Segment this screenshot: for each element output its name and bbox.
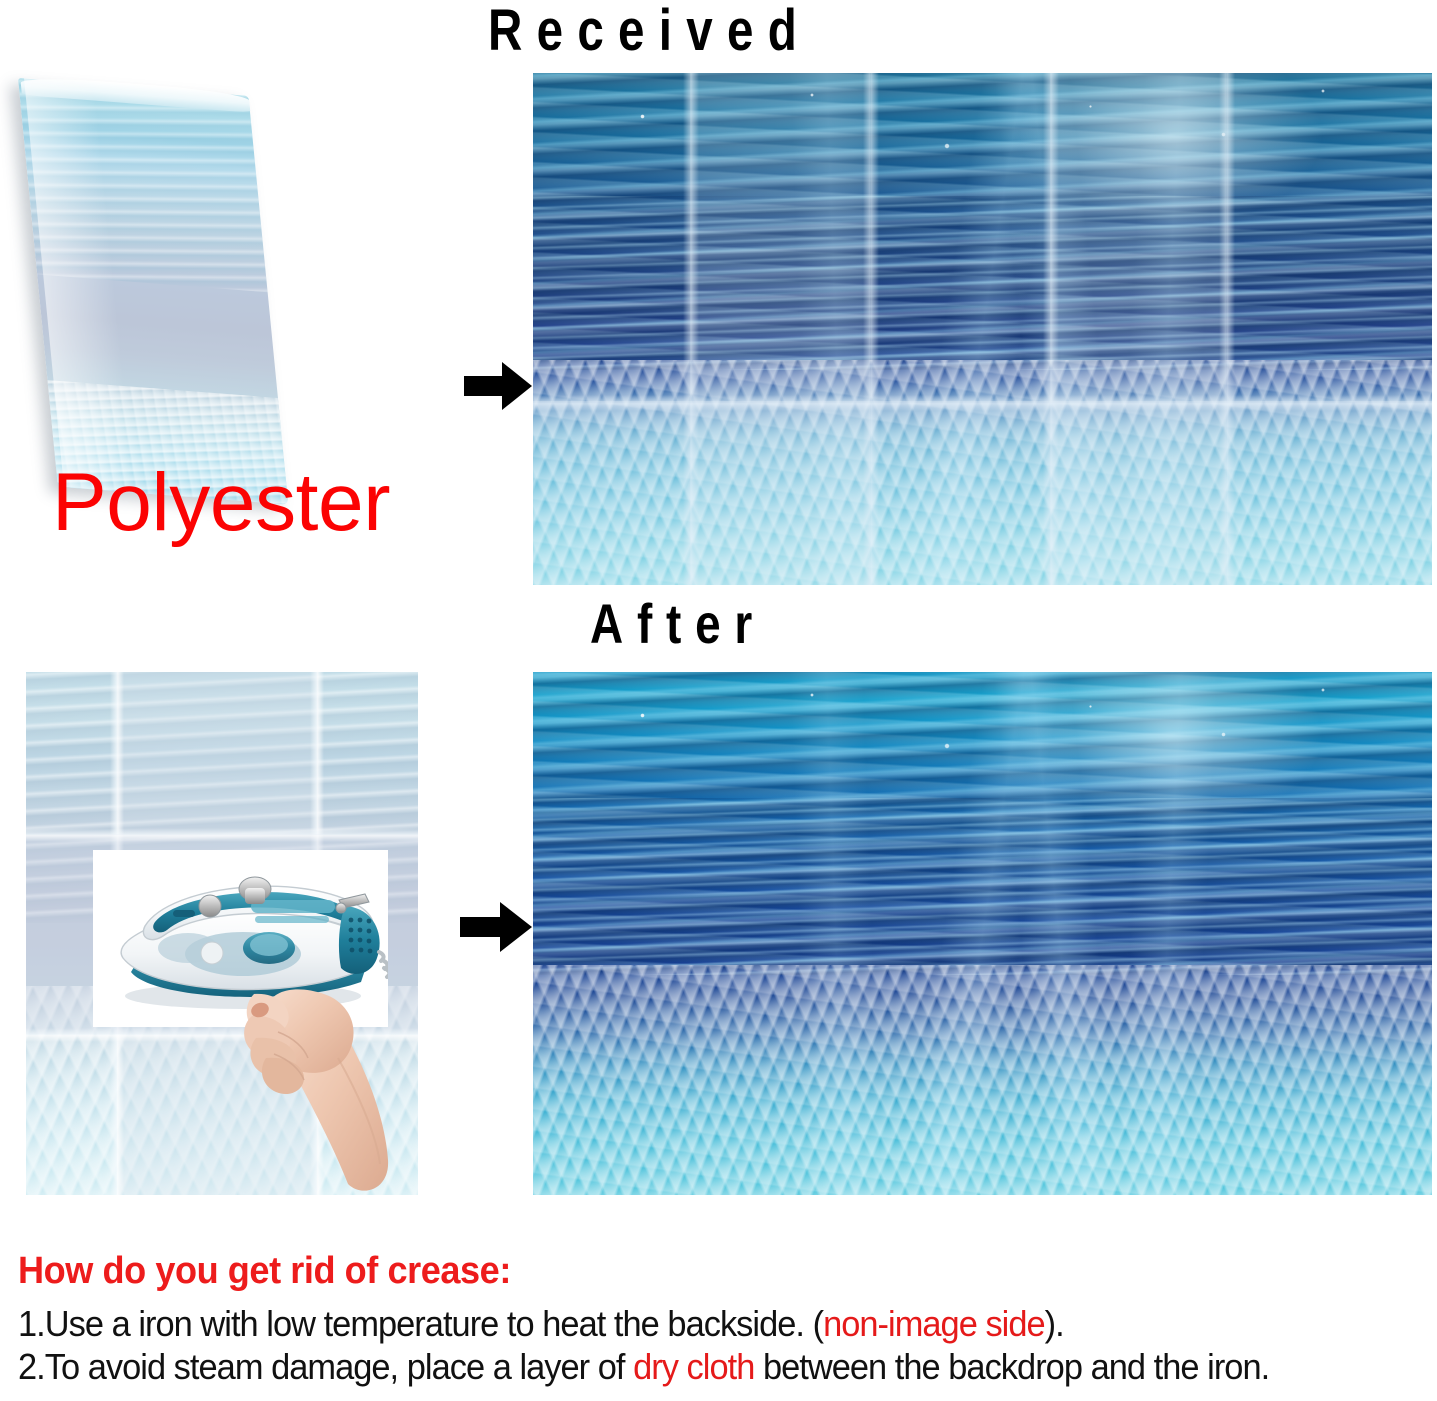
seafloor-caustics [533,360,1432,585]
fabric-sheet [18,78,288,505]
after-backdrop-image [533,672,1432,1195]
care-step-2-text-before: 2.To avoid steam damage, place a layer o… [18,1346,633,1387]
care-step-2-highlight: dry cloth [633,1346,754,1387]
steam-iron-photo [93,850,388,1027]
right-arrow-icon [462,358,534,414]
right-arrow-icon [458,898,534,956]
product-infographic: Received Polyester After [0,0,1437,1401]
care-instructions-heading: How do you get rid of crease: [18,1252,1358,1291]
fabric-swatch-image [18,78,408,498]
care-step-1-text-after: ). [1045,1303,1064,1344]
fine-ripples-after [533,798,1432,976]
received-backdrop-image [533,73,1432,585]
steam-iron-icon [93,850,388,1027]
fine-ripples [533,196,1432,370]
care-step-1-text-before: 1.Use a iron with low temperature to hea… [18,1303,823,1344]
care-step-2-text-after: between the backdrop and the iron. [754,1346,1269,1387]
seafloor-caustics-after [533,965,1432,1195]
after-heading: After [590,596,766,652]
material-label: Polyester [52,462,390,544]
care-step-2: 2.To avoid steam damage, place a layer o… [18,1345,1365,1389]
care-instructions: How do you get rid of crease: 1.Use a ir… [18,1252,1428,1389]
received-heading: Received [488,2,811,60]
care-step-1: 1.Use a iron with low temperature to hea… [18,1302,1365,1346]
care-step-1-highlight: non-image side [823,1303,1045,1344]
